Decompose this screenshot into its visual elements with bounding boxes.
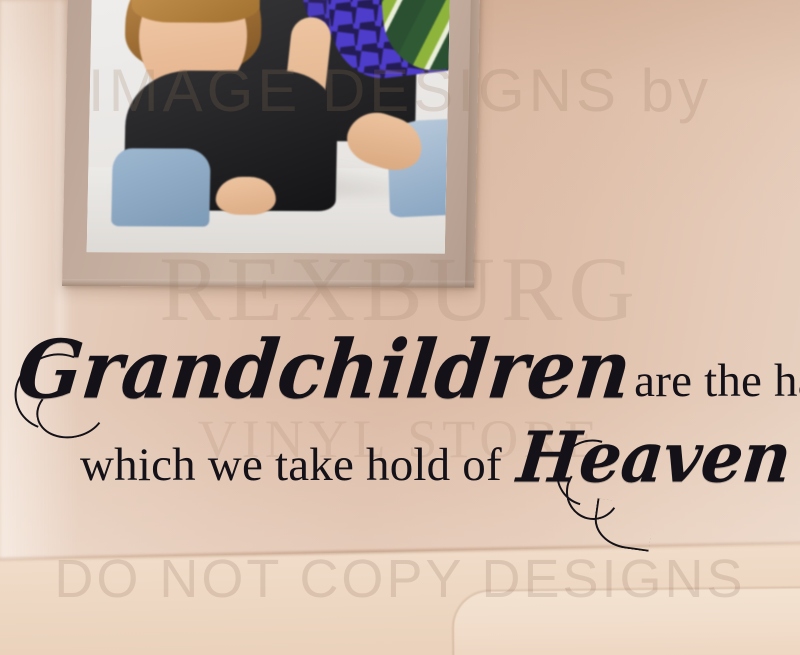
- product-photo-scene: IMAGE DESIGNS by REXBURG VINYL STORE DO …: [0, 0, 800, 655]
- watermark-top: IMAGE DESIGNS by: [0, 56, 800, 125]
- photo-mat: [87, 0, 452, 254]
- watermark-vinyl-store: VINYL STORE: [0, 408, 800, 470]
- boy-jeans: [111, 148, 211, 226]
- watermark-rexburg: REXBURG: [0, 236, 800, 342]
- photo-children: [87, 0, 452, 254]
- boy-hand: [215, 177, 276, 215]
- boy-fringe: [131, 0, 260, 23]
- watermark-do-not-copy: DO NOT COPY DESIGNS: [0, 548, 800, 610]
